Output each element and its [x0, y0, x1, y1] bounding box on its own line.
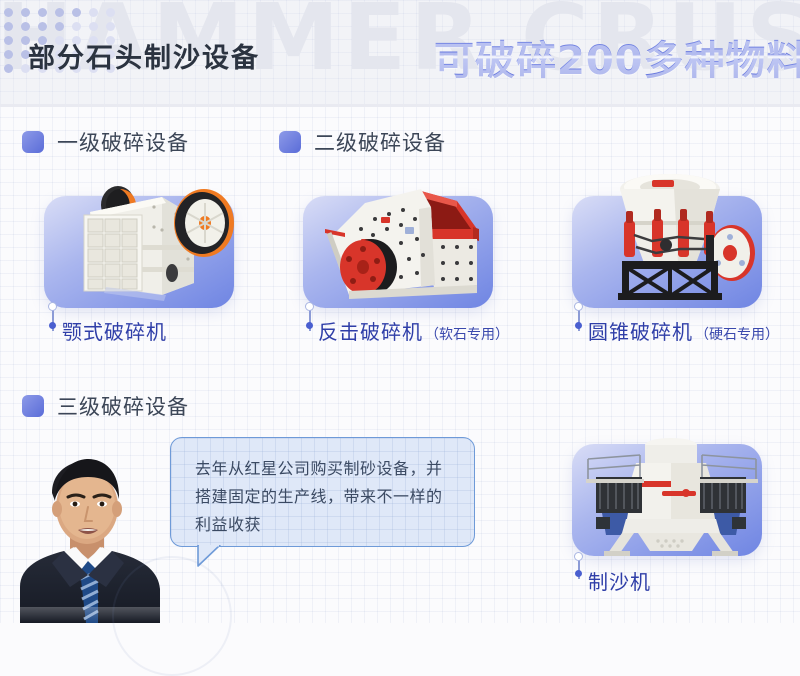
product-name-sand: 制沙机 [588, 566, 651, 595]
product-name-cone: 圆锥破碎机 [588, 316, 693, 345]
caption-impact-crusher: 反击破碎机 （软石专用） [318, 316, 509, 345]
poster-header: HAMMER CRUSHER 部分石头制沙设备 可破碎200多种物料 [0, 0, 800, 104]
square-chip-icon [279, 131, 301, 153]
sidebar-item-stage-1: 一级破碎设备 [22, 127, 189, 157]
header-divider [0, 104, 800, 107]
header-slogan: 可破碎200多种物料 [434, 28, 800, 86]
page-title: 部分石头制沙设备 [28, 36, 260, 75]
square-chip-icon [22, 131, 44, 153]
cone-crusher-photo [574, 167, 770, 307]
background-seal-watermark [112, 556, 232, 676]
caption-jaw-crusher: 颚式破碎机 [62, 316, 169, 345]
testimonial-bubble: 去年从红星公司购买制砂设备，并搭建固定的生产线，带来不一样的利益收获 [170, 437, 475, 547]
section-label-stage-2: 二级破碎设备 [314, 127, 446, 157]
sand-maker-photo [566, 425, 776, 565]
poster-root: HAMMER CRUSHER 部分石头制沙设备 可破碎200多种物料 一级破碎设… [0, 0, 800, 623]
square-chip-icon [22, 395, 44, 417]
jaw-crusher-photo [46, 167, 242, 307]
product-name-jaw: 颚式破碎机 [62, 316, 167, 345]
section-label-stage-3: 三级破碎设备 [57, 391, 189, 421]
product-note-impact: （软石专用） [425, 324, 509, 344]
caption-cone-crusher: 圆锥破碎机 （硬石专用） [588, 316, 779, 345]
sidebar-item-stage-3: 三级破碎设备 [22, 391, 189, 421]
product-name-impact: 反击破碎机 [318, 316, 423, 345]
section-label-stage-1: 一级破碎设备 [57, 127, 189, 157]
product-note-cone: （硬石专用） [695, 324, 779, 344]
caption-sand-maker: 制沙机 [588, 566, 653, 595]
testimonial-quote: 去年从红星公司购买制砂设备，并搭建固定的生产线，带来不一样的利益收获 [195, 455, 454, 539]
impact-crusher-photo [305, 167, 501, 307]
sidebar-item-stage-2: 二级破碎设备 [279, 127, 446, 157]
